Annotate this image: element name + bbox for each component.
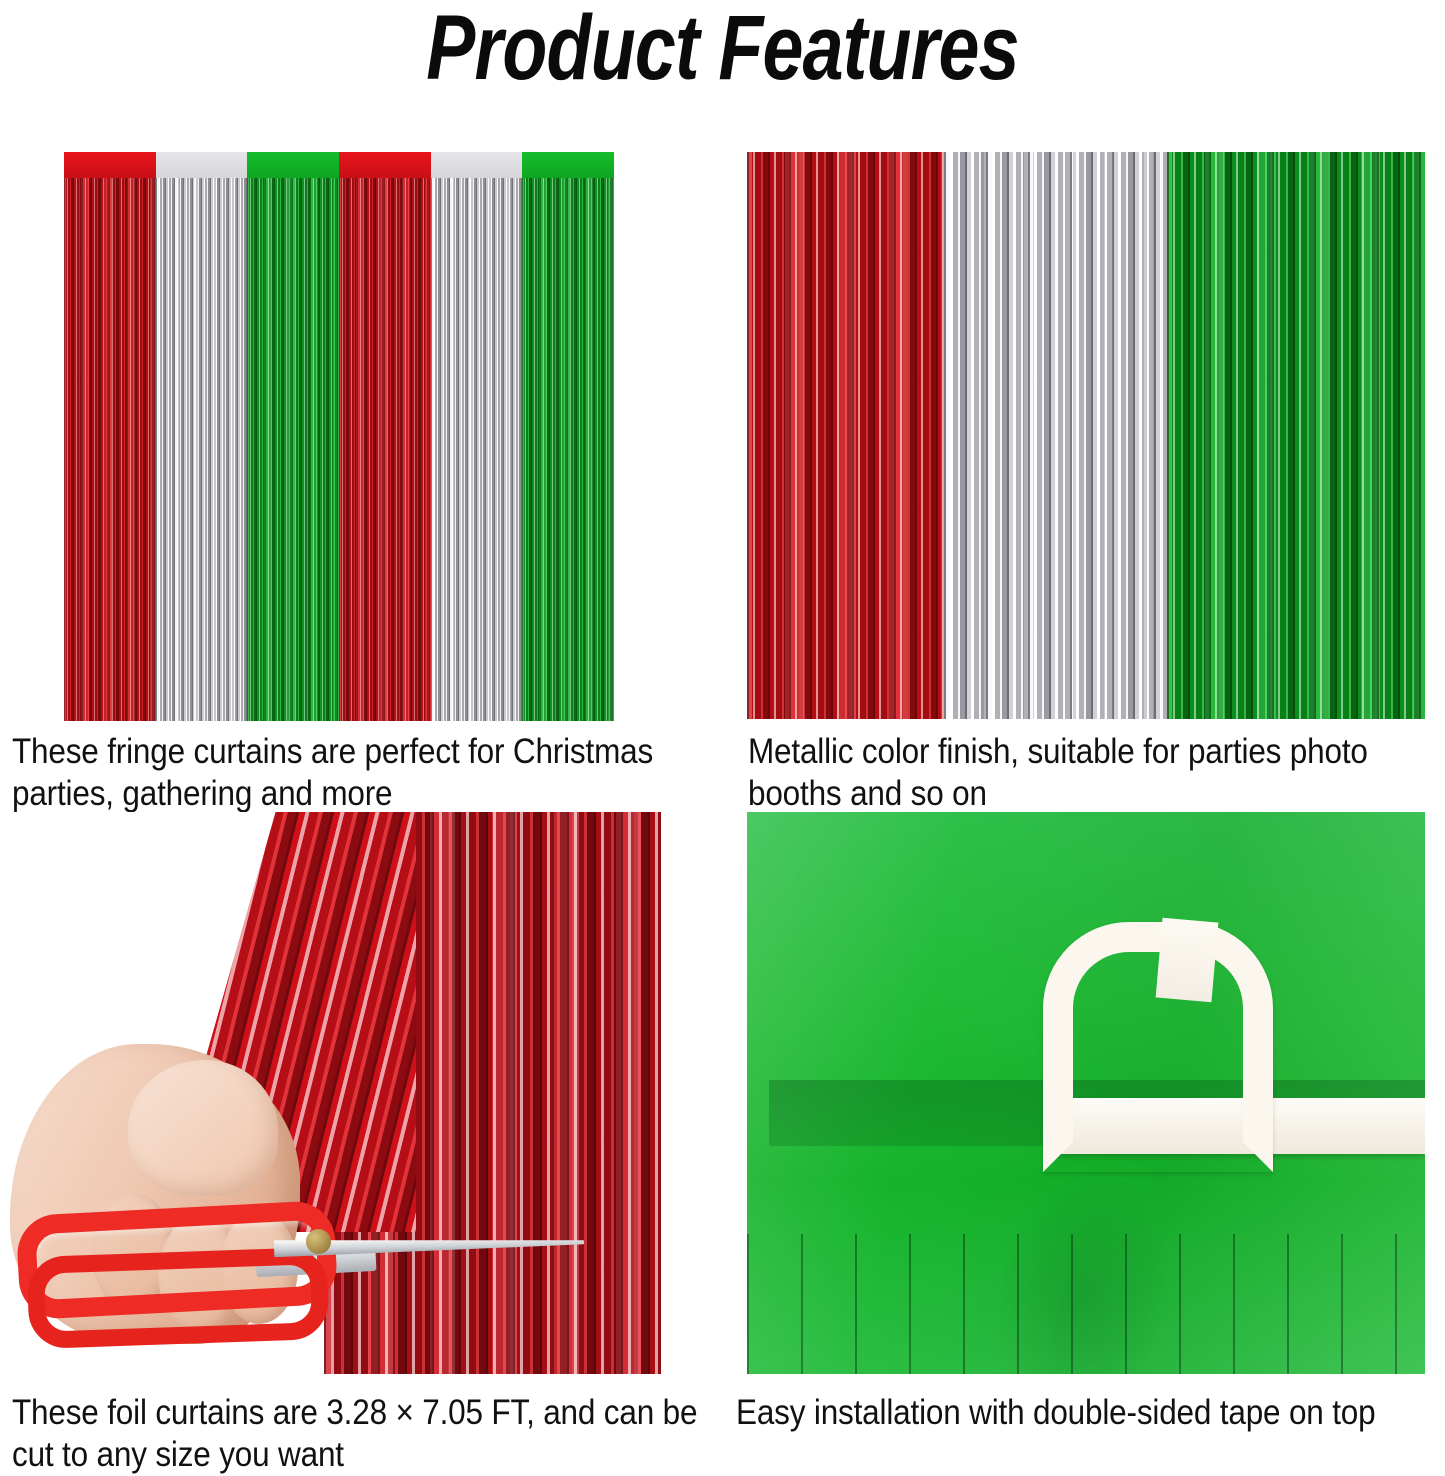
panel-header-bar (64, 152, 156, 178)
feature-image-double-sided-tape (747, 812, 1425, 1374)
panel-header-bar (156, 152, 248, 178)
curtain-panel-red-2 (339, 152, 431, 721)
page-title: Product Features (145, 0, 1301, 100)
fringe-strands (339, 174, 431, 721)
scissors-pivot-screw (306, 1229, 331, 1254)
panel-header-bar (522, 152, 614, 178)
fringe-strands (431, 174, 523, 721)
curtain-panel-group (64, 152, 614, 721)
scissors-handle-lower (26, 1247, 329, 1349)
panel-header-bar (339, 152, 431, 178)
panel-header-bar (247, 152, 339, 178)
green-fringe-cuts (747, 1234, 1425, 1374)
scissors-cutting-scene (6, 812, 661, 1374)
double-sided-tape-end (1156, 918, 1219, 1003)
feature-caption-fringe-curtains: These fringe curtains are perfect for Ch… (12, 731, 723, 815)
feature-caption-cuttable-size: These foil curtains are 3.28 × 7.05 FT, … (12, 1392, 723, 1476)
closeup-panel-red (747, 152, 944, 719)
curtain-panel-silver-2 (431, 152, 523, 721)
curtain-panel-green-1 (247, 152, 339, 721)
fringe-strands (64, 174, 156, 721)
fringe-strands (156, 174, 248, 721)
curtain-panel-green-2 (522, 152, 614, 721)
feature-caption-metallic-finish: Metallic color finish, suitable for part… (748, 731, 1445, 815)
fringe-strands (247, 174, 339, 721)
feature-image-cuttable-size (6, 812, 661, 1374)
fringe-strands (522, 174, 614, 721)
feature-image-fringe-curtains (64, 152, 614, 721)
feature-caption-double-sided-tape: Easy installation with double-sided tape… (736, 1392, 1445, 1434)
thumb (128, 1060, 278, 1196)
panel-header-bar (431, 152, 523, 178)
closeup-panel-group (747, 152, 1425, 719)
curtain-panel-silver-1 (156, 152, 248, 721)
feature-image-metallic-finish (747, 152, 1425, 719)
curtain-panel-red-1 (64, 152, 156, 721)
closeup-panel-green (1167, 152, 1425, 719)
closeup-panel-silver (944, 152, 1168, 719)
